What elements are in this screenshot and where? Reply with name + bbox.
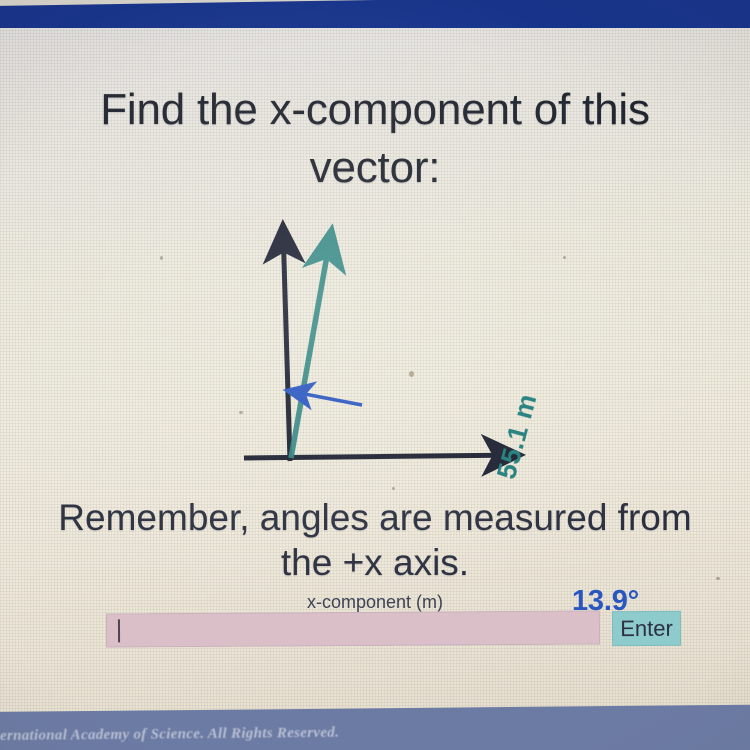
question-heading-line-2: vector: <box>0 140 750 196</box>
question-heading-line-1: Find the x-component of this <box>0 82 750 138</box>
screenshot-root: Find the x-component of this vector: <box>0 0 750 750</box>
x-component-field-label: x-component (m) <box>0 592 750 613</box>
reminder-text-line-2: the +x axis. <box>0 540 750 586</box>
y-axis-line <box>283 227 290 461</box>
reminder-text-line-1: Remember, angles are measured from <box>0 495 750 541</box>
enter-button[interactable]: Enter <box>612 611 681 646</box>
text-caret <box>118 619 120 642</box>
vector-diagram-svg <box>210 205 550 480</box>
vector-diagram: 55.1 m 13.9° <box>210 205 550 480</box>
vector-arrow <box>291 233 331 458</box>
x-axis-line <box>244 455 518 458</box>
x-component-input[interactable] <box>106 610 600 647</box>
